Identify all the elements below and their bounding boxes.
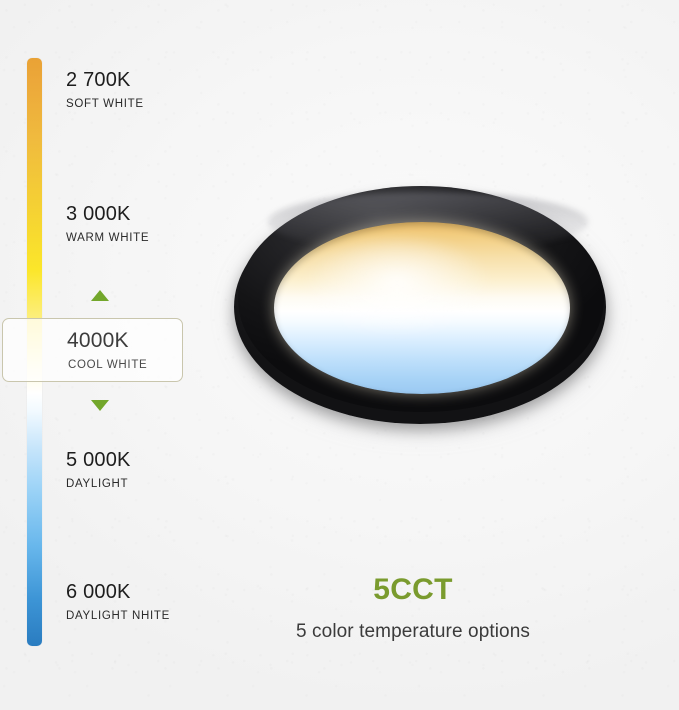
caption-block: 5CCT 5 color temperature options [233, 575, 593, 641]
cct-step-4000k-selected[interactable]: 4000K COOL WHITE [2, 318, 183, 382]
cct-step-6000k[interactable]: 6 000K DAYLIGHT NHITE [66, 582, 170, 623]
cct-step-3000k[interactable]: 3 000K WARM WHITE [66, 204, 149, 245]
cct-step-name: DAYLIGHT NHITE [66, 611, 170, 623]
cct-step-kelvin: 5 000K [66, 450, 131, 470]
cct-step-2700k[interactable]: 2 700K SOFT WHITE [66, 70, 144, 111]
cct-step-kelvin: 4000K [67, 330, 129, 351]
product-infographic: 2 700K SOFT WHITE 3 000K WARM WHITE 4000… [0, 0, 679, 710]
cct-step-name: SOFT WHITE [66, 99, 144, 111]
cct-step-name: WARM WHITE [66, 233, 149, 245]
fixture-lens-glow [302, 238, 492, 338]
ceiling-light-product-image [232, 186, 610, 430]
cct-step-name: COOL WHITE [68, 360, 147, 372]
caption-subtitle: 5 color temperature options [233, 622, 593, 641]
caption-title: 5CCT [233, 575, 593, 605]
cct-step-kelvin: 2 700K [66, 70, 144, 90]
cct-step-kelvin: 3 000K [66, 204, 149, 224]
cct-scale: 2 700K SOFT WHITE 3 000K WARM WHITE 4000… [0, 0, 210, 710]
cct-step-name: DAYLIGHT [66, 479, 131, 491]
cct-step-kelvin: 6 000K [66, 582, 170, 602]
triangle-up-icon[interactable] [91, 290, 109, 301]
cct-step-5000k[interactable]: 5 000K DAYLIGHT [66, 450, 131, 491]
triangle-down-icon[interactable] [91, 400, 109, 411]
